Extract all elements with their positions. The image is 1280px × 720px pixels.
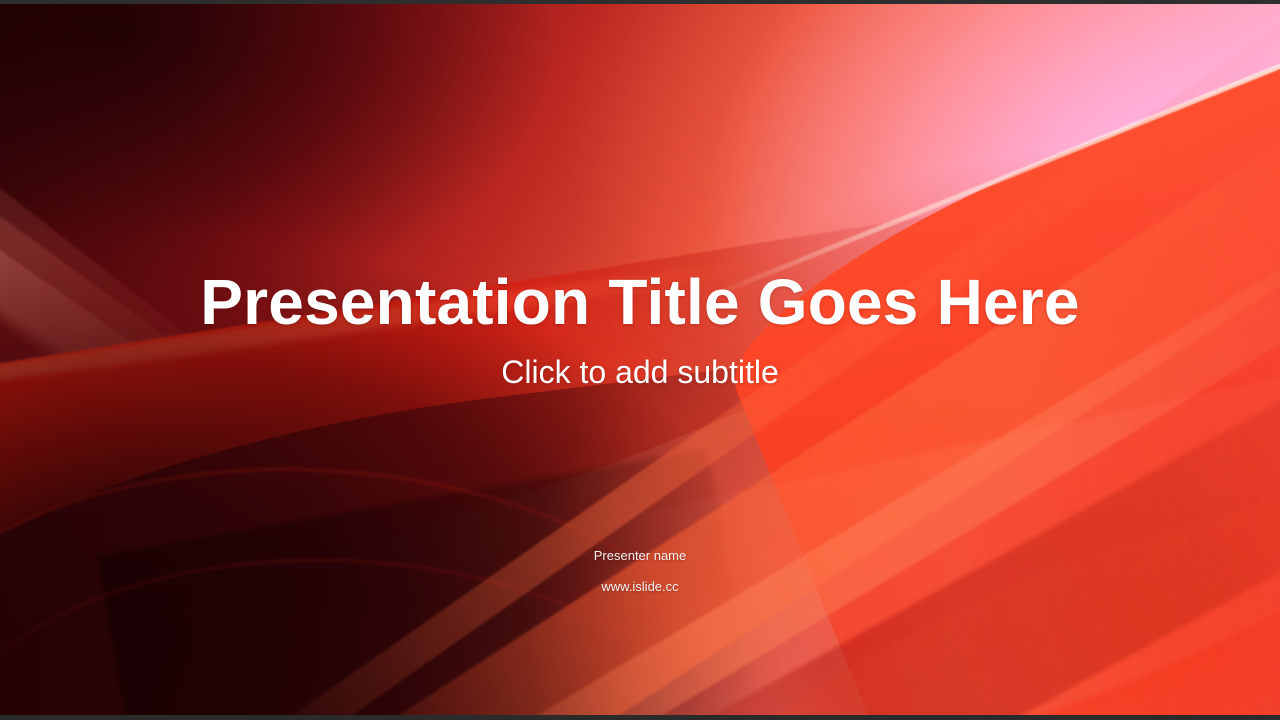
slide-content: Presentation Title Goes Here Click to ad… xyxy=(0,0,1280,720)
footer-placeholder[interactable]: Presenter name www.islide.cc xyxy=(0,548,1280,594)
presentation-slide: Presentation Title Goes Here Click to ad… xyxy=(0,0,1280,720)
slide-subtitle[interactable]: Click to add subtitle xyxy=(0,355,1280,390)
slide-title[interactable]: Presentation Title Goes Here xyxy=(0,268,1280,337)
presenter-name[interactable]: Presenter name xyxy=(0,548,1280,564)
website-url[interactable]: www.islide.cc xyxy=(0,579,1280,595)
title-placeholder[interactable]: Presentation Title Goes Here Click to ad… xyxy=(0,268,1280,390)
